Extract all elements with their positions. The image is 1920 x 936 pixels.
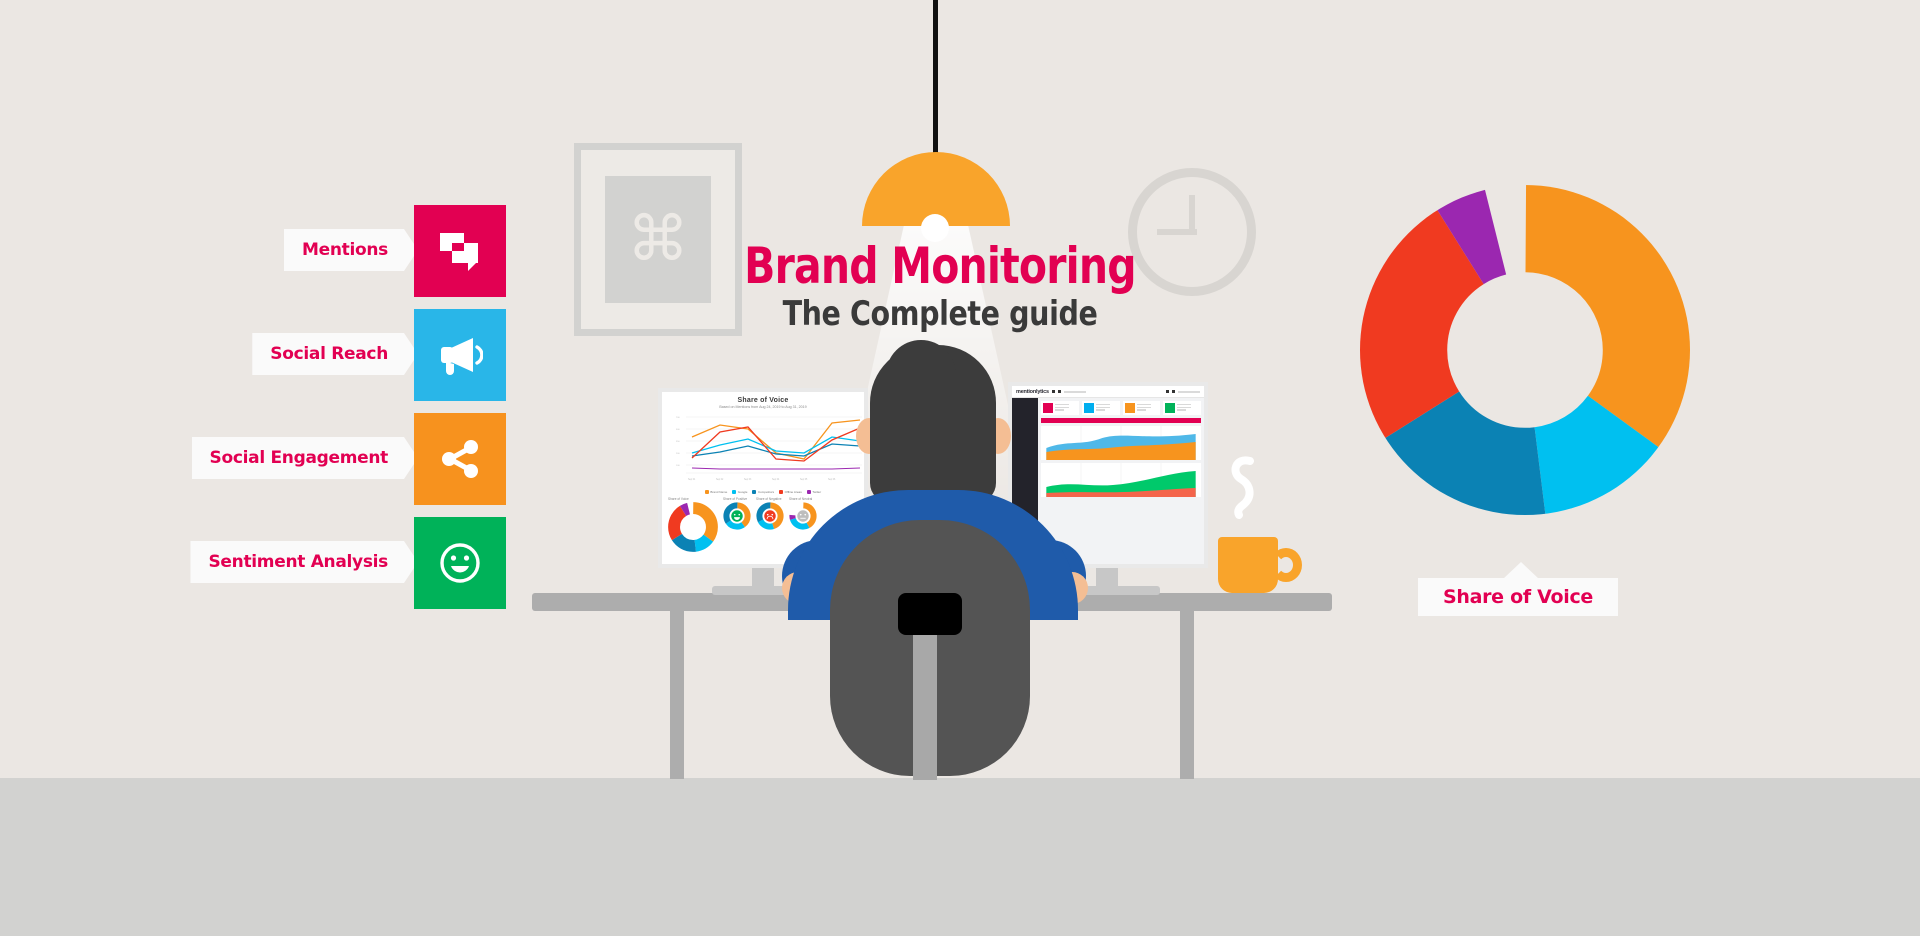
stat-lines <box>1177 404 1191 412</box>
chair-post <box>913 630 937 780</box>
donut-chart <box>756 502 784 530</box>
line-chart-legend: Brand Name Google Competitors Offline Ar… <box>668 490 858 494</box>
area-chart <box>1041 463 1201 497</box>
headline-block: Brand Monitoring The Complete guide <box>700 240 1180 334</box>
topbar-icon[interactable] <box>1166 390 1169 393</box>
stat-lines <box>1137 404 1151 412</box>
svg-text:Sep 03: Sep 03 <box>744 479 752 481</box>
stat-card-row <box>1041 401 1201 415</box>
donut-share-of-positive: Share of Positive <box>723 497 751 535</box>
feature-item-sentiment-analysis[interactable]: Sentiment Analysis <box>190 517 510 621</box>
feature-label-social-engagement: Social Engagement <box>192 437 418 479</box>
stat-lines <box>1096 404 1110 412</box>
share-of-voice-callout: Share of Voice <box>1418 578 1618 616</box>
stat-card[interactable] <box>1082 401 1120 415</box>
legend-item: Google <box>732 490 747 494</box>
dashboard-subtitle: Based on Mentions from Aug 24, 2019 to A… <box>668 405 858 409</box>
dashboard-topbar: mentionlytics <box>1012 386 1204 398</box>
desk-leg-right <box>1180 611 1194 779</box>
topbar-icon[interactable] <box>1058 390 1061 393</box>
megaphone-icon <box>437 335 483 375</box>
feature-tile-social-reach[interactable] <box>414 309 506 401</box>
legend-item: Competitors <box>752 490 774 494</box>
donut-chart <box>668 502 718 552</box>
donut-center-hole <box>1454 279 1596 421</box>
share-nodes-icon <box>439 439 481 479</box>
feature-label-sentiment-analysis: Sentiment Analysis <box>190 541 418 583</box>
area-chart-panel-2 <box>1041 463 1201 497</box>
svg-text:Sep 05: Sep 05 <box>800 479 808 481</box>
chat-bubbles-icon <box>438 231 482 271</box>
feature-item-social-engagement[interactable]: Social Engagement <box>190 413 510 517</box>
lamp-cord <box>933 0 938 160</box>
feature-item-mentions[interactable]: Mentions <box>190 205 510 309</box>
feature-label-mentions: Mentions <box>284 229 418 271</box>
feature-tile-social-engagement[interactable] <box>414 413 506 505</box>
donut-share-of-neutral: Share of Neutral <box>789 497 817 535</box>
donut-chart <box>789 502 817 530</box>
stat-swatch <box>1084 403 1094 413</box>
stat-card[interactable] <box>1163 401 1201 415</box>
stat-card[interactable] <box>1041 401 1079 415</box>
dashboard-title: Share of Voice <box>668 397 858 404</box>
stat-card[interactable] <box>1123 401 1161 415</box>
feature-list: Mentions Social Reach <box>190 205 510 621</box>
coffee-cup-handle <box>1270 548 1302 582</box>
smiley-face-icon <box>438 541 482 585</box>
dashboard-main <box>1038 398 1204 564</box>
callout-notch-icon <box>1503 562 1539 579</box>
share-of-voice-donut-chart <box>1360 185 1690 515</box>
donut-share-of-negative: Share of Negative <box>756 497 784 535</box>
page-subtitle: The Complete guide <box>738 295 1141 334</box>
svg-text:Sep 01: Sep 01 <box>688 479 696 481</box>
feature-item-social-reach[interactable]: Social Reach <box>190 309 510 413</box>
stat-swatch <box>1125 403 1135 413</box>
svg-text:500: 500 <box>676 429 680 431</box>
donut-share-of-voice: Share of Voice <box>668 497 718 557</box>
legend-item: Twitter <box>807 490 821 494</box>
legend-item: Brand Name <box>705 490 727 494</box>
stat-lines <box>1055 404 1069 412</box>
share-of-voice-line-chart: 700500 350200 100 Sep 01Sep 02 Sep 03Sep… <box>668 411 864 483</box>
svg-text:200: 200 <box>676 453 680 455</box>
feature-tile-mentions[interactable] <box>414 205 506 297</box>
coffee-cup-icon <box>1218 537 1278 593</box>
topbar-icon[interactable] <box>1052 390 1055 393</box>
stat-swatch <box>1043 403 1053 413</box>
svg-text:Sep 02: Sep 02 <box>716 479 724 481</box>
donut-chart <box>723 502 751 530</box>
page-title: Brand Monitoring <box>743 240 1137 293</box>
topbar-placeholder <box>1064 391 1086 393</box>
area-chart <box>1041 426 1201 460</box>
svg-text:350: 350 <box>676 441 680 443</box>
floor-background <box>0 778 1920 936</box>
area-chart-panel <box>1041 426 1201 460</box>
steam-icon <box>1225 455 1263 529</box>
svg-text:Sep 04: Sep 04 <box>772 479 780 481</box>
topbar-placeholder <box>1178 391 1200 393</box>
chair-headrest <box>898 593 962 635</box>
stat-swatch <box>1165 403 1175 413</box>
clock-minute-hand <box>1157 229 1197 235</box>
feature-tile-sentiment-analysis[interactable] <box>414 517 506 609</box>
svg-text:Sep 06: Sep 06 <box>828 479 836 481</box>
illustration-canvas: ⌘ Brand Monitoring The Complete guide Me… <box>0 0 1920 936</box>
legend-item: Offline Areas <box>779 490 802 494</box>
topbar-icon[interactable] <box>1172 390 1175 393</box>
feature-label-social-reach: Social Reach <box>252 333 418 375</box>
mentionlytics-logo: mentionlytics <box>1016 389 1049 395</box>
desk-leg-left <box>670 611 684 779</box>
svg-text:100: 100 <box>676 465 680 467</box>
svg-text:700: 700 <box>676 417 680 419</box>
accent-bar <box>1041 418 1201 423</box>
